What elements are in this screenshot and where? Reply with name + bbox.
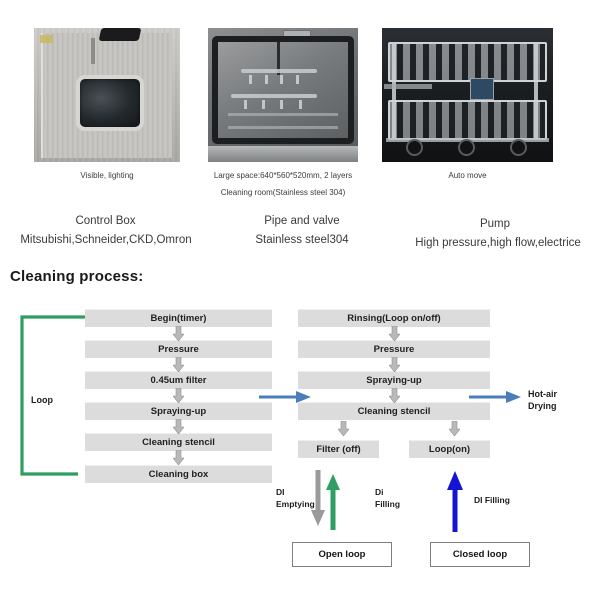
flow-box-spraying-up-right[interactable]: Spraying-up (298, 371, 490, 389)
door-rod-icon (91, 38, 95, 64)
down-arrow-icon (173, 326, 184, 341)
chamber-door-frame (212, 36, 354, 144)
product-subtitle-control-box: Mitsubishi,Schneider,CKD,Omron (0, 232, 212, 249)
spray-nozzle (262, 100, 265, 109)
photo-column-control-box: Visible, lighting (34, 28, 180, 182)
flow-box-spraying-up-left[interactable]: Spraying-up (85, 402, 272, 420)
control-box-photo (34, 28, 180, 162)
down-arrow-icon (449, 421, 460, 436)
spray-nozzle (280, 75, 283, 84)
product-title-control-box: Control Box (8, 213, 203, 230)
flow-box-pressure-left[interactable]: Pressure (85, 340, 272, 358)
photo-column-auto-move: Auto move (382, 28, 553, 182)
down-arrow-icon (389, 388, 400, 403)
down-arrow-icon (389, 357, 400, 372)
spray-nozzle (280, 100, 283, 109)
photo-caption: Visible, lighting (34, 169, 180, 182)
flow-box-cleaning-stencil-right[interactable]: Cleaning stencil (298, 402, 490, 420)
control-panel-icon (470, 78, 494, 100)
rack-wheel (510, 139, 527, 156)
spray-bar (241, 69, 316, 73)
chamber-sill (208, 146, 358, 162)
flow-box-pressure-right[interactable]: Pressure (298, 340, 490, 358)
spray-nozzle (265, 75, 268, 84)
down-arrow-icon (389, 326, 400, 341)
down-arrow-icon (173, 357, 184, 372)
cleaning-room-photo (208, 28, 358, 162)
product-title-pipe-valve: Pipe and valve (222, 213, 382, 230)
di-emptying-line1: DI (276, 487, 285, 497)
rack-post (392, 42, 396, 138)
chamber-rack (228, 126, 337, 129)
down-arrow-icon (338, 421, 349, 436)
spray-nozzle (249, 75, 252, 84)
loop-label: Loop (31, 394, 53, 406)
viewing-window (76, 75, 144, 131)
photo-caption-secondary: Cleaning room(Stainless steel 304) (208, 186, 358, 199)
di-filling-line1: Di (375, 487, 384, 497)
auto-move-rack-photo (382, 28, 553, 162)
product-subtitle-pipe-valve: Stainless steel304 (222, 232, 382, 249)
di-emptying-label: DI Emptying (276, 486, 315, 510)
rack-shelf-lower (388, 100, 547, 140)
di-emptying-line2: Emptying (276, 499, 315, 509)
di-filling-line2: Filling (375, 499, 400, 509)
product-photo-strip: Visible, lighting (0, 0, 600, 260)
di-filling-label: Di Filling (375, 486, 400, 510)
spray-bar (231, 94, 317, 98)
page-title: Cleaning process: (10, 268, 143, 285)
rack-wheel (458, 139, 475, 156)
photo-caption: Large space:640*560*520mm, 2 layers (208, 169, 358, 182)
slide-page: Visible, lighting (0, 0, 600, 600)
down-arrow-icon (173, 388, 184, 403)
spray-bar (384, 84, 432, 89)
closed-loop-box[interactable]: Closed loop (430, 542, 530, 567)
spray-nozzle (244, 100, 247, 109)
di-filling-arrow-blue (447, 471, 463, 532)
down-arrow-icon (173, 419, 184, 434)
product-title-pump: Pump (400, 216, 590, 233)
hot-air-drying-label: Hot-air Drying (528, 388, 557, 412)
di-filling-arrow-green (326, 474, 340, 530)
rack-wheel (406, 139, 423, 156)
hot-air-drying-line1: Hot-air (528, 389, 557, 399)
flow-box-filter-045um[interactable]: 0.45um filter (85, 371, 272, 389)
flow-box-rinsing[interactable]: Rinsing(Loop on/off) (298, 309, 490, 327)
cleaning-process-flowchart: Begin(timer) Pressure 0.45um filter Spra… (0, 290, 600, 590)
di-filling-right-label: DI Filling (474, 494, 510, 506)
flow-box-begin-timer[interactable]: Begin(timer) (85, 309, 272, 327)
spray-nozzle (299, 100, 302, 109)
flow-box-cleaning-stencil-left[interactable]: Cleaning stencil (85, 433, 272, 451)
spray-nozzle (296, 75, 299, 84)
label-sticker-icon (40, 35, 53, 43)
flow-box-cleaning-box[interactable]: Cleaning box (85, 465, 272, 483)
photo-caption: Auto move (382, 169, 553, 182)
photo-column-cleaning-room: Large space:640*560*520mm, 2 layers Clea… (208, 28, 358, 199)
rack-shelf-upper (388, 42, 547, 82)
open-loop-box[interactable]: Open loop (292, 542, 392, 567)
door-handle-icon (99, 28, 142, 41)
down-arrow-icon (173, 450, 184, 465)
rack-post (534, 42, 538, 138)
product-subtitle-pump: High pressure,high flow,electrice (398, 235, 598, 252)
flow-box-loop-on[interactable]: Loop(on) (409, 440, 490, 458)
flow-box-filter-off[interactable]: Filter (off) (298, 440, 379, 458)
hot-air-drying-line2: Drying (528, 401, 557, 411)
chamber-rack (228, 113, 337, 116)
